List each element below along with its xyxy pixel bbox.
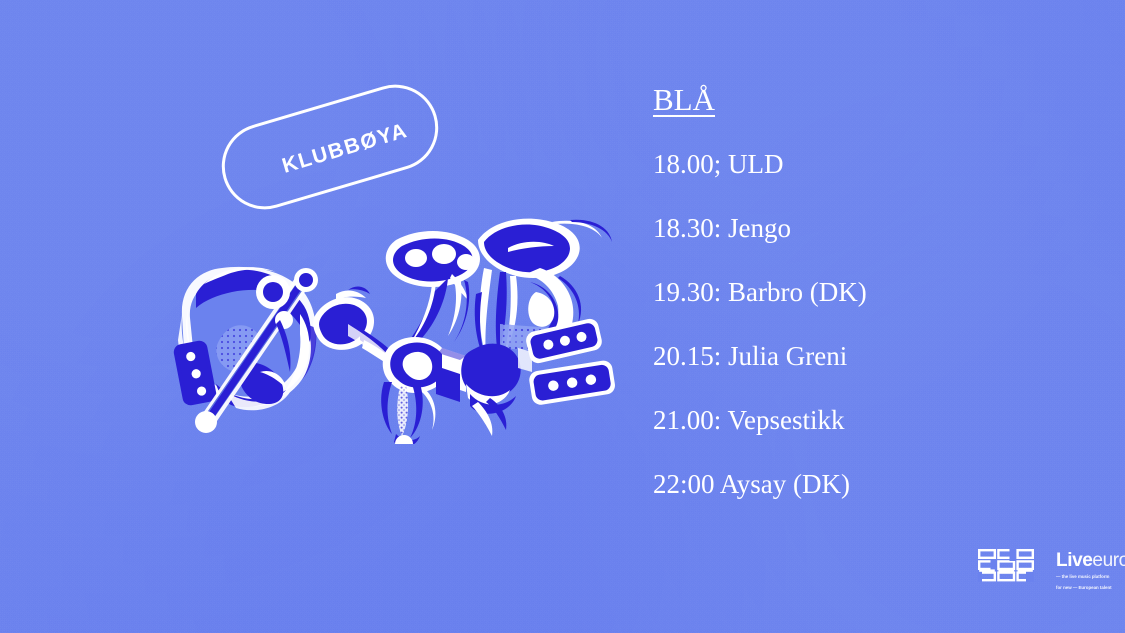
liveurope-tagline-line1: — the live music platform	[1056, 574, 1125, 581]
poster-canvas: KLUBBØYA	[0, 0, 1125, 633]
oya-letter-a	[461, 219, 616, 436]
klubboya-badge-label: KLUBBØYA	[279, 119, 410, 179]
bla-logo-icon	[978, 549, 1034, 587]
liveurope-logo: Liveeurope — the live music platform for…	[1056, 549, 1125, 591]
programme-slot: 21.00: Vepsestikk	[653, 407, 1093, 434]
oya-letter-o	[172, 267, 318, 433]
programme-panel: BLÅ 18.00; ULD 18.30: Jengo 19.30: Barbr…	[653, 84, 1093, 498]
liveurope-tagline-line2: for new — European talent	[1056, 585, 1125, 592]
programme-slot-list: 18.00; ULD 18.30: Jengo 19.30: Barbro (D…	[653, 151, 1093, 498]
liveurope-word-europe: europe	[1092, 550, 1125, 571]
programme-slot: 19.30: Barbro (DK)	[653, 279, 1093, 306]
liveurope-word-live: Live	[1056, 550, 1092, 571]
programme-slot: 18.00; ULD	[653, 151, 1093, 178]
liveurope-wordmark: Liveeurope	[1056, 551, 1125, 570]
venue-heading: BLÅ	[653, 84, 715, 115]
oya-letter-y	[313, 231, 480, 444]
programme-slot: 22:00 Aysay (DK)	[653, 471, 1093, 498]
footer-logo-strip: Liveeurope — the live music platform for…	[978, 549, 1125, 591]
programme-slot: 20.15: Julia Greni	[653, 343, 1093, 370]
programme-slot: 18.30: Jengo	[653, 215, 1093, 242]
oya-logotype	[160, 196, 630, 444]
